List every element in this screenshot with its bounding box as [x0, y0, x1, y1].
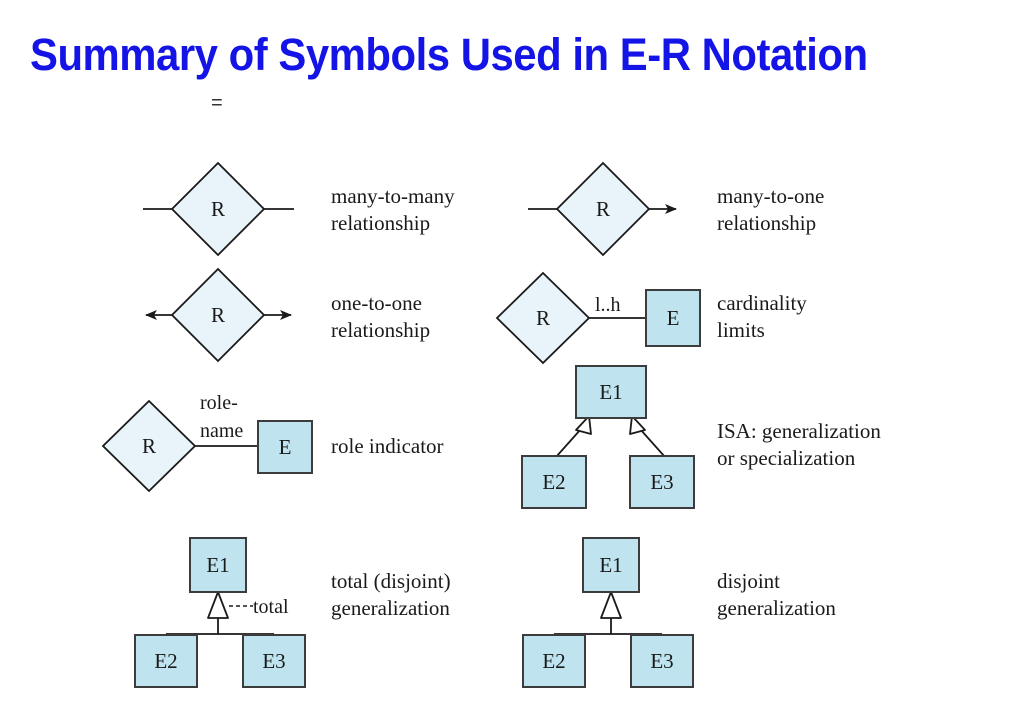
- caption-many-to-many: many-to-many relationship: [331, 183, 455, 237]
- symbol-diagrams: R R R R E l..h R: [0, 0, 1020, 704]
- subclass-label-E2: E2: [542, 470, 565, 494]
- caption-many-to-one: many-to-one relationship: [717, 183, 824, 237]
- symbol-many-to-many: R: [143, 163, 294, 255]
- role-edge-label-line2: name: [200, 420, 243, 442]
- superclass-label-E1: E1: [599, 380, 622, 404]
- caption-role-indicator: role indicator: [331, 433, 444, 460]
- caption-cardinality-limits: cardinality limits: [717, 290, 807, 344]
- symbol-many-to-one: R: [528, 163, 676, 255]
- entity-label-E: E: [279, 435, 292, 459]
- symbol-isa-generalization: E1 E2 E3: [522, 366, 694, 508]
- caption-isa: ISA: generalization or specialization: [717, 418, 881, 472]
- symbol-disjoint-generalization: E1 E2 E3: [523, 538, 693, 687]
- page-title: Summary of Symbols Used in E-R Notation: [30, 28, 923, 82]
- symbol-one-to-one: R: [146, 269, 291, 361]
- diamond-label-R: R: [211, 197, 225, 221]
- diamond-label-R: R: [211, 303, 225, 327]
- subclass-label-E3: E3: [650, 649, 673, 673]
- superclass-label-E1: E1: [206, 553, 229, 577]
- caption-disjoint-generalization: disjoint generalization: [717, 568, 836, 622]
- superclass-label-E1: E1: [599, 553, 622, 577]
- subclass-label-E2: E2: [542, 649, 565, 673]
- role-edge-label-line1: role-: [200, 392, 238, 414]
- symbol-cardinality-limits: R E l..h: [497, 273, 700, 363]
- subclass-label-E2: E2: [154, 649, 177, 673]
- subclass-label-E3: E3: [650, 470, 673, 494]
- symbol-total-disjoint-generalization: total E1 E2 E3: [135, 538, 305, 687]
- title-underline-artifact: =: [211, 93, 223, 113]
- diamond-label-R: R: [596, 197, 610, 221]
- caption-total-disjoint-generalization: total (disjoint) generalization: [331, 568, 451, 622]
- diamond-label-R: R: [536, 306, 550, 330]
- diamond-label-R: R: [142, 434, 156, 458]
- slide-canvas: Summary of Symbols Used in E-R Notation …: [0, 0, 1020, 704]
- caption-one-to-one: one-to-one relationship: [331, 290, 430, 344]
- subclass-label-E3: E3: [262, 649, 285, 673]
- total-edge-label: total: [253, 596, 289, 618]
- entity-label-E: E: [667, 306, 680, 330]
- cardinality-edge-label: l..h: [595, 294, 621, 316]
- symbol-role-indicator: R E role- name: [103, 392, 312, 491]
